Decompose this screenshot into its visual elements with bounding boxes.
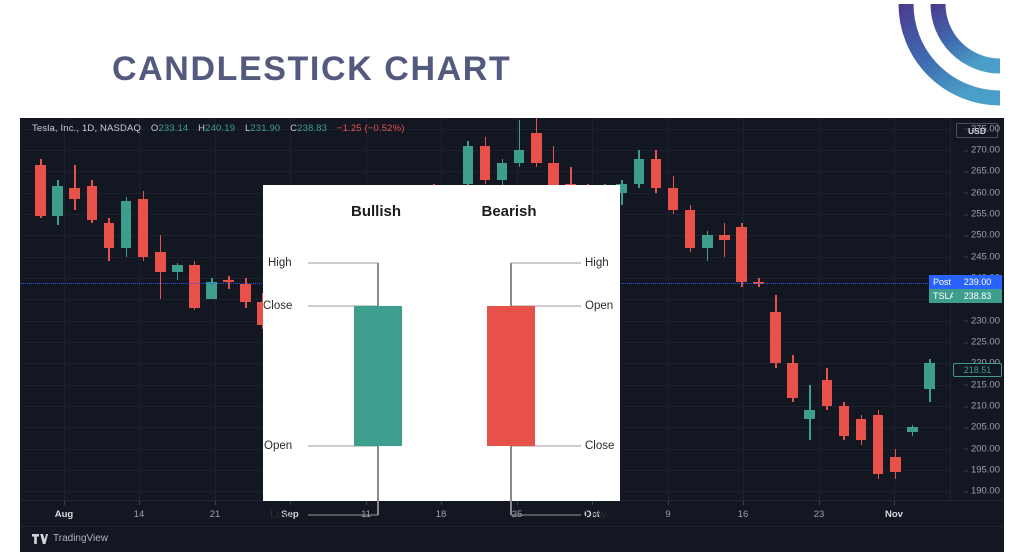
candle-bearish xyxy=(155,252,166,271)
candle-bullish xyxy=(804,410,815,419)
candle-bearish xyxy=(890,457,901,472)
bearish-close-label: Close xyxy=(585,440,614,452)
candle-bullish xyxy=(463,146,474,184)
bullish-close-label: Close xyxy=(263,300,304,312)
candle-bearish xyxy=(685,210,696,248)
tradingview-branding[interactable]: TradingView xyxy=(32,533,108,544)
arcs-svg xyxy=(860,0,1024,116)
symbol-price-tag-label: TSLA xyxy=(929,289,953,303)
candle-bearish xyxy=(736,227,747,282)
concentric-arcs-decoration xyxy=(860,0,1024,116)
bullish-open-label: Open xyxy=(264,440,304,452)
price-tick: 245.00 xyxy=(971,251,1000,262)
candle-bearish xyxy=(668,188,679,209)
candle-bearish xyxy=(69,188,80,199)
bullish-high-leader xyxy=(308,263,378,264)
bearish-low-leader xyxy=(511,515,581,516)
bullish-low-label: Low xyxy=(270,509,304,521)
price-tick: 255.00 xyxy=(971,209,1000,220)
page-title: CANDLESTICK CHART xyxy=(112,50,511,89)
candle-wick xyxy=(74,165,76,210)
chart-legend: Tesla, Inc., 1D, NASDAQ O233.14 H240.19 … xyxy=(32,123,405,134)
price-tick: 195.00 xyxy=(971,465,1000,476)
time-tick: 23 xyxy=(814,509,825,520)
gridline-vertical xyxy=(139,118,140,500)
candle-bearish xyxy=(770,312,781,363)
gridline-vertical xyxy=(894,118,895,500)
gridline-vertical xyxy=(743,118,744,500)
gridline-vertical xyxy=(64,118,65,500)
candle-bearish xyxy=(480,146,491,180)
bearish-title: Bearish xyxy=(481,203,536,220)
bearish-high-label: High xyxy=(585,257,609,269)
time-tick: 18 xyxy=(436,509,447,520)
post-market-tag-value: 239.00 xyxy=(953,275,1002,289)
tradingview-logo-icon xyxy=(32,534,48,544)
candle-bearish xyxy=(223,280,234,282)
gridline-vertical xyxy=(819,118,820,500)
time-tick-mark xyxy=(668,501,669,505)
legend-close-value: 238.83 xyxy=(297,123,327,134)
candle-bullish xyxy=(206,282,217,299)
bearish-body xyxy=(487,306,535,446)
time-tick-mark xyxy=(592,501,593,505)
time-tick: Nov xyxy=(885,509,903,520)
last-price-tag: 218.51 xyxy=(953,363,1002,377)
candle-bearish xyxy=(104,223,115,249)
time-tick-mark xyxy=(517,501,518,505)
price-tick: 210.00 xyxy=(971,401,1000,412)
bearish-high-leader xyxy=(511,263,581,264)
time-tick-mark xyxy=(215,501,216,505)
price-tick: 215.00 xyxy=(971,379,1000,390)
candle-bullish xyxy=(52,186,63,216)
bullish-body xyxy=(354,306,402,446)
time-tick: 9 xyxy=(665,509,670,520)
price-axis[interactable]: USD 275.00270.00265.00260.00255.00250.00… xyxy=(950,118,1004,500)
time-axis[interactable]: Aug1421Sep111825Oct91623Nov xyxy=(20,500,1004,526)
bullish-low-leader xyxy=(308,515,378,516)
price-tick: 275.00 xyxy=(971,123,1000,134)
time-tick-mark xyxy=(290,501,291,505)
candle-bullish xyxy=(121,201,132,248)
candle-bullish xyxy=(702,235,713,248)
legend-low-value: 231.90 xyxy=(250,123,280,134)
legend-symbol[interactable]: Tesla, Inc., 1D, NASDAQ xyxy=(32,123,141,134)
candle-bearish xyxy=(240,284,251,301)
time-tick: 16 xyxy=(738,509,749,520)
price-tick: 230.00 xyxy=(971,315,1000,326)
time-tick: Aug xyxy=(55,509,73,520)
gridline-vertical xyxy=(668,118,669,500)
time-tick-mark xyxy=(64,501,65,505)
bullish-high-label: High xyxy=(268,257,304,269)
candle-bearish xyxy=(856,419,867,440)
time-tick-mark xyxy=(441,501,442,505)
candle-bullish xyxy=(497,163,508,180)
gridline-vertical xyxy=(215,118,216,500)
time-tick-mark xyxy=(743,501,744,505)
time-tick-mark xyxy=(894,501,895,505)
candlestick-anatomy-overlay: Bullish High Close Open Low Bearish High… xyxy=(263,185,620,501)
candle-bearish xyxy=(787,363,798,397)
legend-high-value: 240.19 xyxy=(205,123,235,134)
time-tick-mark xyxy=(819,501,820,505)
candle-bearish xyxy=(839,406,850,436)
candle-bullish xyxy=(172,265,183,271)
candle-bearish xyxy=(138,199,149,257)
price-tick: 225.00 xyxy=(971,337,1000,348)
price-tick: 260.00 xyxy=(971,187,1000,198)
tradingview-label: TradingView xyxy=(53,533,108,544)
bearish-low-label: Low xyxy=(585,509,606,521)
candle-bearish xyxy=(873,415,884,475)
slide-root: CANDLESTICK CHART Tesla, Inc., 1D, NASDA… xyxy=(0,0,1024,560)
legend-change: −1.25 (−0.52%) xyxy=(337,123,405,134)
post-market-tag-label: Post xyxy=(929,275,953,289)
bearish-open-label: Open xyxy=(585,300,613,312)
price-tick: 205.00 xyxy=(971,422,1000,433)
candle-bullish xyxy=(514,150,525,163)
price-tick: 270.00 xyxy=(971,145,1000,156)
legend-open-value: 233.14 xyxy=(158,123,188,134)
price-tick: 250.00 xyxy=(971,230,1000,241)
time-tick-mark xyxy=(139,501,140,505)
price-tick: 190.00 xyxy=(971,486,1000,497)
chart-bottom-bar: TradingView xyxy=(20,526,1004,552)
candle-bullish xyxy=(907,427,918,431)
candle-bearish xyxy=(87,186,98,220)
candle-bearish xyxy=(189,265,200,308)
candle-bullish xyxy=(924,363,935,389)
candle-bearish xyxy=(719,235,730,239)
candle-bearish xyxy=(35,165,46,216)
price-tick: 265.00 xyxy=(971,166,1000,177)
trading-chart-panel[interactable]: Tesla, Inc., 1D, NASDAQ O233.14 H240.19 … xyxy=(20,118,1004,552)
time-tick-mark xyxy=(366,501,367,505)
time-tick: 21 xyxy=(210,509,221,520)
price-tick: 200.00 xyxy=(971,443,1000,454)
time-tick: 14 xyxy=(134,509,145,520)
candle-bearish xyxy=(531,133,542,163)
candle-wick xyxy=(724,223,726,257)
candle-bullish xyxy=(634,159,645,185)
symbol-price-tag-value: 238.83 xyxy=(953,289,1002,303)
candle-bearish xyxy=(822,380,833,406)
candle-bearish xyxy=(651,159,662,189)
bullish-title: Bullish xyxy=(351,203,401,220)
